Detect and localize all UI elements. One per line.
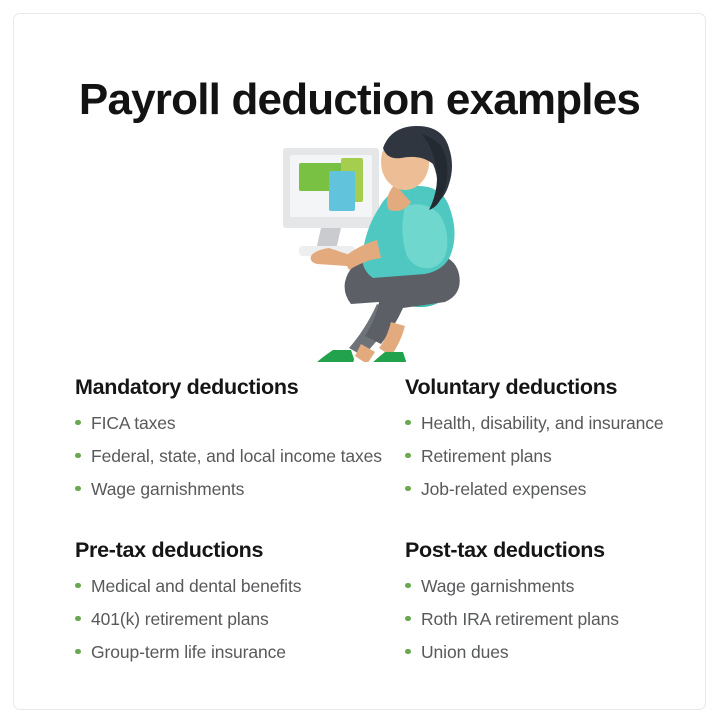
list-item: 401(k) retirement plans [62, 607, 392, 631]
section-heading: Mandatory deductions [75, 376, 392, 400]
bullet-dot-icon [405, 583, 411, 589]
bullet-list: Wage garnishments Roth IRA retirement pl… [392, 574, 682, 664]
bullet-dot-icon [75, 616, 81, 622]
bullet-dot-icon [405, 649, 411, 655]
list-item-label: Health, disability, and insurance [421, 413, 664, 433]
list-item: Union dues [392, 640, 682, 664]
woman-at-computer-illustration [259, 122, 489, 362]
section-post-tax-deductions: Post-tax deductions Wage garnishments Ro… [392, 539, 682, 664]
section-heading: Voluntary deductions [405, 376, 682, 400]
list-item-label: Wage garnishments [91, 479, 244, 499]
section-heading: Pre-tax deductions [75, 539, 392, 563]
page-title: Payroll deduction examples [14, 77, 705, 123]
list-item: Group-term life insurance [62, 640, 392, 664]
list-item-label: FICA taxes [91, 413, 176, 433]
bullet-dot-icon [405, 420, 411, 426]
bullet-dot-icon [75, 420, 81, 426]
list-item: Roth IRA retirement plans [392, 607, 682, 631]
list-item-label: Union dues [421, 642, 509, 662]
section-voluntary-deductions: Voluntary deductions Health, disability,… [392, 376, 682, 501]
bullet-dot-icon [75, 486, 81, 492]
infographic-card: Payroll deduction examples [13, 13, 706, 710]
list-item-label: Job-related expenses [421, 479, 586, 499]
bullet-dot-icon [75, 649, 81, 655]
bullet-dot-icon [75, 453, 81, 459]
list-item: Wage garnishments [62, 477, 392, 501]
bullet-list: Medical and dental benefits 401(k) retir… [62, 574, 392, 664]
section-pre-tax-deductions: Pre-tax deductions Medical and dental be… [62, 539, 392, 664]
deduction-sections-grid: Mandatory deductions FICA taxes Federal,… [62, 376, 682, 664]
list-item-label: Federal, state, and local income taxes [91, 446, 382, 466]
bullet-dot-icon [405, 616, 411, 622]
list-item: Health, disability, and insurance [392, 411, 682, 435]
list-item-label: Retirement plans [421, 446, 552, 466]
bullet-dot-icon [405, 453, 411, 459]
bullet-dot-icon [75, 583, 81, 589]
list-item-label: Group-term life insurance [91, 642, 286, 662]
list-item-label: Wage garnishments [421, 576, 574, 596]
bullet-list: FICA taxes Federal, state, and local inc… [62, 411, 392, 501]
list-item-label: Roth IRA retirement plans [421, 609, 619, 629]
bullet-list: Health, disability, and insurance Retire… [392, 411, 682, 501]
list-item: Job-related expenses [392, 477, 682, 501]
list-item: Wage garnishments [392, 574, 682, 598]
list-item: Retirement plans [392, 444, 682, 468]
list-item: Federal, state, and local income taxes [62, 444, 392, 468]
list-item: FICA taxes [62, 411, 392, 435]
section-heading: Post-tax deductions [405, 539, 682, 563]
list-item: Medical and dental benefits [62, 574, 392, 598]
list-item-label: Medical and dental benefits [91, 576, 301, 596]
list-item-label: 401(k) retirement plans [91, 609, 269, 629]
bullet-dot-icon [405, 486, 411, 492]
section-mandatory-deductions: Mandatory deductions FICA taxes Federal,… [62, 376, 392, 501]
